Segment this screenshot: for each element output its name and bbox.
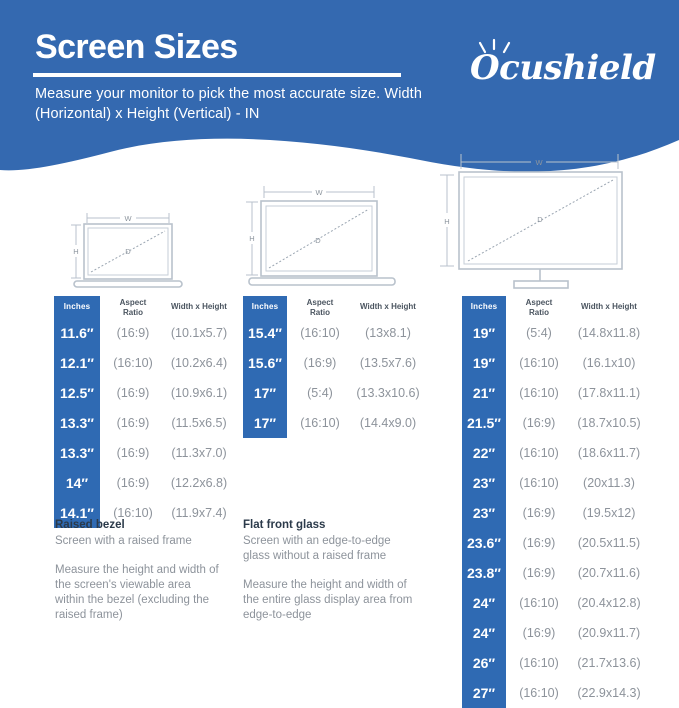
cell-inches: 12.5″ — [54, 378, 100, 408]
cell-aspect-ratio: (16:9) — [510, 498, 568, 528]
diagram-width-label: W — [124, 214, 132, 223]
table-row[interactable]: 23.8″(16:9)(20.7x11.6) — [462, 558, 642, 588]
cell-inches: 14″ — [54, 468, 100, 498]
cell-aspect-ratio: (16:9) — [510, 558, 568, 588]
cell-width-height: (10.2x6.4) — [160, 348, 238, 378]
cell-aspect-ratio: (16:10) — [510, 378, 568, 408]
note-body: Measure the height and width of the enti… — [243, 578, 418, 623]
cell-aspect-ratio: (16:9) — [104, 378, 162, 408]
cell-inches: 26″ — [462, 648, 506, 678]
cell-width-height: (13.3x10.6) — [345, 378, 431, 408]
cell-inches: 11.6″ — [54, 318, 100, 348]
column-header-width-height: Width x Height — [160, 296, 238, 318]
table-row[interactable]: 13.3″(16:9)(11.3x7.0) — [54, 438, 229, 468]
cell-inches: 23.8″ — [462, 558, 506, 588]
cell-inches: 13.3″ — [54, 438, 100, 468]
cell-inches: 15.6″ — [243, 348, 287, 378]
cell-aspect-ratio: (16:9) — [104, 408, 162, 438]
note-title: Raised bezel — [55, 518, 223, 533]
cell-width-height: (10.9x6.1) — [160, 378, 238, 408]
cell-inches: 19″ — [462, 348, 506, 378]
diagram-height-label: H — [73, 247, 78, 256]
cell-inches: 24″ — [462, 588, 506, 618]
cell-width-height: (21.7x13.6) — [564, 648, 654, 678]
table-row[interactable]: 14″(16:9)(12.2x6.8) — [54, 468, 229, 498]
note-title: Flat front glass — [243, 518, 418, 533]
note-subtitle: Screen with an edge-to-edge glass withou… — [243, 534, 418, 564]
cell-aspect-ratio: (16:9) — [510, 408, 568, 438]
cell-width-height: (20.5x11.5) — [564, 528, 654, 558]
table-row[interactable]: 26″(16:10)(21.7x13.6) — [462, 648, 642, 678]
cell-inches: 19″ — [462, 318, 506, 348]
cell-width-height: (19.5x12) — [564, 498, 654, 528]
cell-inches: 23″ — [462, 498, 506, 528]
column-header-aspect-ratio: AspectRatio — [510, 296, 568, 318]
diagram-monitor-large: W H D — [426, 145, 658, 298]
note-subtitle: Screen with a raised frame — [55, 534, 223, 549]
table-small-screens: InchesAspectRatioWidth x Height11.6″(16:… — [54, 296, 229, 528]
cell-aspect-ratio: (16:10) — [510, 348, 568, 378]
cell-aspect-ratio: (16:10) — [510, 438, 568, 468]
cell-width-height: (14.8x11.8) — [564, 318, 654, 348]
table-header-row: InchesAspectRatioWidth x Height — [243, 296, 423, 318]
cell-width-height: (13.5x7.6) — [345, 348, 431, 378]
column-header-aspect-ratio: AspectRatio — [104, 296, 162, 318]
table-row[interactable]: 11.6″(16:9)(10.1x5.7) — [54, 318, 229, 348]
table-row[interactable]: 12.1″(16:10)(10.2x6.4) — [54, 348, 229, 378]
table-row[interactable]: 15.6″(16:9)(13.5x7.6) — [243, 348, 423, 378]
table-row[interactable]: 15.4″(16:10)(13x8.1) — [243, 318, 423, 348]
cell-width-height: (18.7x10.5) — [564, 408, 654, 438]
cell-inches: 15.4″ — [243, 318, 287, 348]
cell-width-height: (18.6x11.7) — [564, 438, 654, 468]
table-row[interactable]: 23.6″(16:9)(20.5x11.5) — [462, 528, 642, 558]
cell-inches: 13.3″ — [54, 408, 100, 438]
cell-inches: 21″ — [462, 378, 506, 408]
cell-aspect-ratio: (16:10) — [291, 408, 349, 438]
cell-aspect-ratio: (16:10) — [291, 318, 349, 348]
diagram-diagonal-label: D — [315, 236, 321, 245]
table-row[interactable]: 22″(16:10)(18.6x11.7) — [462, 438, 642, 468]
column-header-inches: Inches — [243, 296, 287, 318]
cell-width-height: (20.7x11.6) — [564, 558, 654, 588]
cell-aspect-ratio: (16:9) — [104, 468, 162, 498]
table-row[interactable]: 19″(5:4)(14.8x11.8) — [462, 318, 642, 348]
cell-aspect-ratio: (16:9) — [104, 318, 162, 348]
raised-bezel-note: Raised bezel Screen with a raised frame … — [55, 518, 223, 623]
cell-width-height: (11.5x6.5) — [160, 408, 238, 438]
cell-aspect-ratio: (16:10) — [104, 348, 162, 378]
diagram-laptop-medium: W H D — [236, 180, 408, 297]
table-large-screens: InchesAspectRatioWidth x Height19″(5:4)(… — [462, 296, 642, 708]
cell-width-height: (20.4x12.8) — [564, 588, 654, 618]
cell-inches: 24″ — [462, 618, 506, 648]
diagram-height-label: H — [444, 217, 449, 226]
cell-width-height: (16.1x10) — [564, 348, 654, 378]
table-row[interactable]: 21.5″(16:9)(18.7x10.5) — [462, 408, 642, 438]
diagram-diagonal-label: D — [125, 247, 131, 256]
brand-logo: Ocushield — [470, 38, 650, 94]
cell-width-height: (13x8.1) — [345, 318, 431, 348]
cell-aspect-ratio: (5:4) — [510, 318, 568, 348]
table-row[interactable]: 13.3″(16:9)(11.5x6.5) — [54, 408, 229, 438]
cell-inches: 23″ — [462, 468, 506, 498]
cell-width-height: (17.8x11.1) — [564, 378, 654, 408]
brand-name: Ocushield — [470, 48, 656, 88]
cell-inches: 17″ — [243, 408, 287, 438]
cell-aspect-ratio: (16:10) — [510, 678, 568, 708]
table-row[interactable]: 12.5″(16:9)(10.9x6.1) — [54, 378, 229, 408]
cell-width-height: (10.1x5.7) — [160, 318, 238, 348]
cell-width-height: (12.2x6.8) — [160, 468, 238, 498]
flat-front-glass-note: Flat front glass Screen with an edge-to-… — [243, 518, 418, 623]
table-row[interactable]: 17″(16:10)(14.4x9.0) — [243, 408, 423, 438]
cell-width-height: (20.9x11.7) — [564, 618, 654, 648]
cell-aspect-ratio: (16:9) — [510, 528, 568, 558]
table-header-row: InchesAspectRatioWidth x Height — [54, 296, 229, 318]
column-header-aspect-ratio: AspectRatio — [291, 296, 349, 318]
column-header-width-height: Width x Height — [564, 296, 654, 318]
cell-inches: 17″ — [243, 378, 287, 408]
cell-inches: 23.6″ — [462, 528, 506, 558]
diagram-width-label: W — [535, 158, 543, 167]
note-body: Measure the height and width of the scre… — [55, 563, 223, 623]
cell-inches: 21.5″ — [462, 408, 506, 438]
title-divider — [33, 73, 401, 77]
cell-aspect-ratio: (5:4) — [291, 378, 349, 408]
column-header-inches: Inches — [462, 296, 506, 318]
cell-width-height: (20x11.3) — [564, 468, 654, 498]
cell-width-height: (14.4x9.0) — [345, 408, 431, 438]
table-row[interactable]: 17″(5:4)(13.3x10.6) — [243, 378, 423, 408]
table-row[interactable]: 21″(16:10)(17.8x11.1) — [462, 378, 642, 408]
cell-inches: 27″ — [462, 678, 506, 708]
column-header-width-height: Width x Height — [345, 296, 431, 318]
table-row[interactable]: 19″(16:10)(16.1x10) — [462, 348, 642, 378]
page-title: Screen Sizes — [35, 28, 238, 66]
cell-inches: 12.1″ — [54, 348, 100, 378]
cell-width-height: (11.3x7.0) — [160, 438, 238, 468]
diagram-height-label: H — [249, 234, 254, 243]
diagram-width-label: W — [315, 188, 323, 197]
cell-aspect-ratio: (16:9) — [291, 348, 349, 378]
cell-aspect-ratio: (16:9) — [510, 618, 568, 648]
cell-aspect-ratio: (16:9) — [104, 438, 162, 468]
cell-inches: 22″ — [462, 438, 506, 468]
diagram-diagonal-label: D — [537, 215, 543, 224]
table-header-row: InchesAspectRatioWidth x Height — [462, 296, 642, 318]
column-header-inches: Inches — [54, 296, 100, 318]
table-row[interactable]: 23″(16:10)(20x11.3) — [462, 468, 642, 498]
cell-aspect-ratio: (16:10) — [510, 648, 568, 678]
cell-width-height: (22.9x14.3) — [564, 678, 654, 708]
table-row[interactable]: 24″(16:10)(20.4x12.8) — [462, 588, 642, 618]
page-subtitle: Measure your monitor to pick the most ac… — [35, 84, 435, 124]
table-row[interactable]: 24″(16:9)(20.9x11.7) — [462, 618, 642, 648]
table-row[interactable]: 27″(16:10)(22.9x14.3) — [462, 678, 642, 708]
table-row[interactable]: 23″(16:9)(19.5x12) — [462, 498, 642, 528]
diagram-laptop-small: W H D — [60, 193, 192, 296]
cell-aspect-ratio: (16:10) — [510, 468, 568, 498]
cell-aspect-ratio: (16:10) — [510, 588, 568, 618]
table-medium-screens: InchesAspectRatioWidth x Height15.4″(16:… — [243, 296, 423, 438]
